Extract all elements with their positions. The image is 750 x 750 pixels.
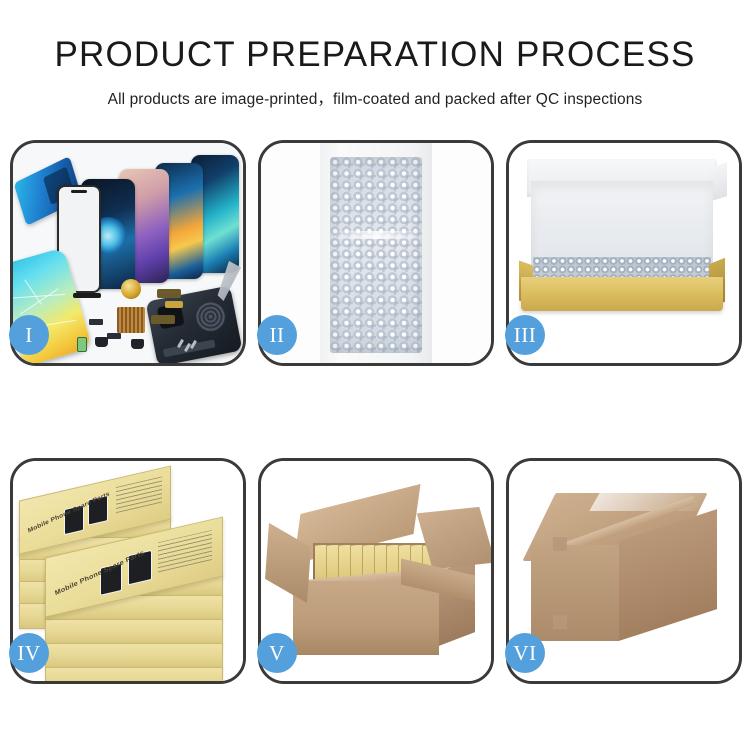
part-connector-1 (89, 319, 103, 325)
open-shipping-carton (275, 503, 475, 671)
step-badge-3: III (505, 315, 545, 355)
step-panel-bubble-wrap-wrapping[interactable]: II (258, 140, 494, 366)
step-panel-inner-white-box-packing[interactable]: III (506, 140, 742, 366)
part-battery (77, 337, 87, 352)
carton-front-face (293, 581, 439, 655)
part-flex-cable-2 (165, 301, 183, 308)
carton-left-face (531, 545, 619, 641)
step-badge-2: II (257, 315, 297, 355)
step-badge-4: IV (9, 633, 49, 673)
part-black-bar (73, 293, 101, 298)
carton-top-highlight (589, 491, 721, 511)
carton-tape-tab-top (553, 537, 567, 551)
phone-screens-fan (79, 155, 239, 285)
bubble-wrap-highlight (328, 231, 424, 239)
part-connector-2 (107, 333, 121, 339)
white-inner-box (521, 159, 723, 319)
part-flex-cable-3 (151, 315, 175, 324)
kraft-box-stack: Mobile Phone Spare Parts Mobile Phone Sp… (17, 479, 243, 681)
sealed-shipping-carton (531, 489, 717, 659)
step-badge-6: VI (505, 633, 545, 673)
box-front-kraft-panel (521, 277, 723, 311)
carton-tape-tab-bottom (553, 615, 567, 629)
header: PRODUCT PREPARATION PROCESS All products… (0, 0, 750, 109)
bubble-wrap-bubbles (330, 157, 422, 353)
step-panel-carton-filled-open[interactable]: V (258, 458, 494, 684)
page-title: PRODUCT PREPARATION PROCESS (0, 36, 750, 75)
part-gold-coil (121, 279, 141, 299)
part-flex-cable-1 (157, 289, 181, 298)
part-chip-grid (117, 307, 145, 333)
step-badge-5: V (257, 633, 297, 673)
stacked-box (45, 619, 223, 645)
step-panel-labelled-boxes-stacked[interactable]: Mobile Phone Spare Parts Mobile Phone Sp… (10, 458, 246, 684)
stacked-box (45, 667, 223, 681)
step-panel-products-and-spare-parts[interactable]: I (10, 140, 246, 366)
step-badge-1: I (9, 315, 49, 355)
part-screws (177, 339, 199, 357)
stacked-box (45, 643, 223, 669)
part-camera-module (131, 339, 144, 349)
step-panel-carton-sealed[interactable]: VI (506, 458, 742, 684)
box-print-spec-lines (158, 530, 212, 572)
product-preparation-infographic: PRODUCT PREPARATION PROCESS All products… (0, 0, 750, 750)
steps-grid: I II (10, 140, 742, 684)
box-print-spec-lines (116, 477, 162, 514)
part-speaker (95, 337, 108, 347)
spare-parts-group (73, 275, 205, 359)
page-subtitle: All products are image-printed，film-coat… (0, 87, 750, 109)
